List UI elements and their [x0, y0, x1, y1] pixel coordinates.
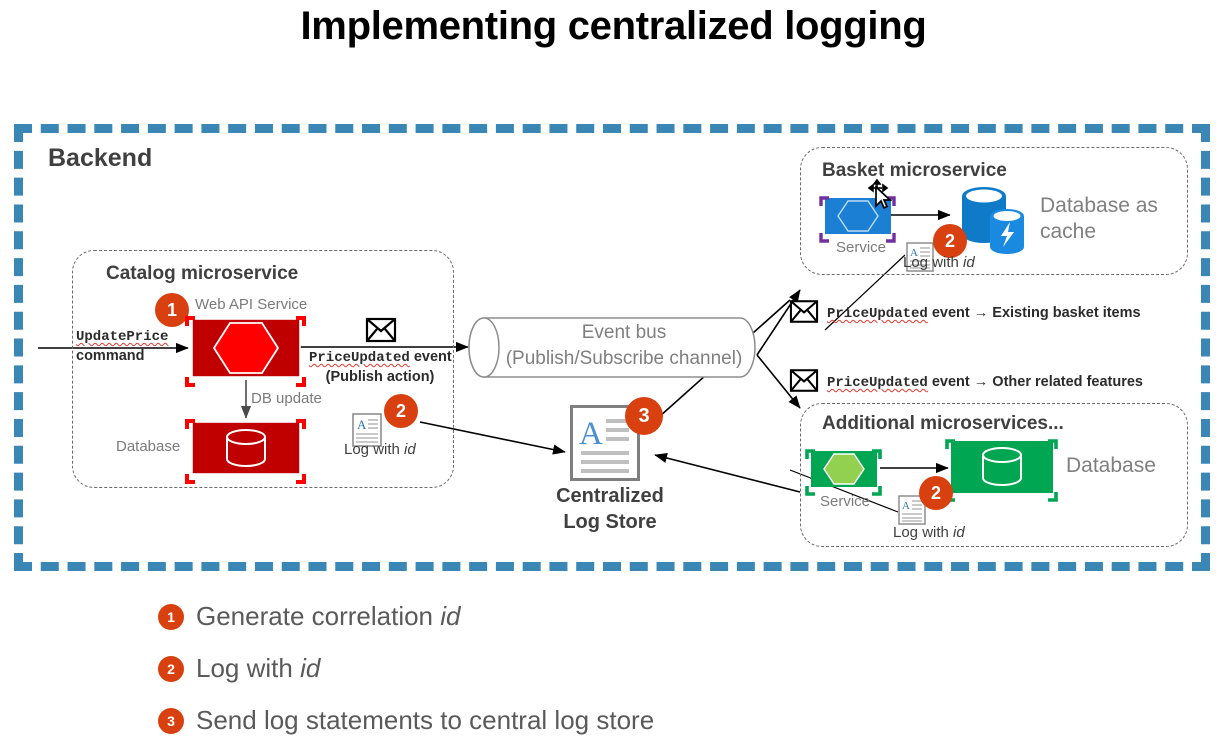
legend-label-1: Generate correlation id: [196, 601, 461, 632]
envelope-icon: [366, 318, 396, 347]
step-badge-3: 3: [625, 397, 663, 435]
catalog-log-caption-prefix: Log with: [344, 441, 404, 458]
diagram-canvas: Implementing centralized logging Backend: [0, 0, 1227, 742]
step-badge-1: 1: [155, 293, 189, 327]
additional-database-caption: Database: [1066, 454, 1156, 478]
basket-log-caption: Log with id: [903, 254, 975, 271]
catalog-microservice-title: Catalog microservice: [106, 263, 298, 285]
event-bus-line2: (Publish/Subscribe channel): [500, 346, 748, 372]
legend-label-2-text: Log with: [196, 653, 300, 683]
basket-service-caption: Service: [836, 239, 886, 256]
corner-bracket: [872, 447, 881, 456]
event-row-1-mono: PriceUpdated: [827, 306, 928, 322]
svg-text:A: A: [902, 500, 910, 512]
corner-bracket: [187, 314, 196, 323]
corner-bracket: [1048, 437, 1057, 446]
db-update-label: DB update: [251, 390, 322, 407]
log-store-title-line1: Centralized: [520, 483, 700, 509]
corner-bracket: [187, 373, 196, 382]
basket-db-caption-line1: Database as: [1040, 194, 1158, 218]
legend-badge-1: 1: [158, 604, 184, 630]
step-badge-2-basket: 2: [933, 224, 967, 258]
catalog-log-caption-italic: id: [404, 441, 416, 458]
event-row-2: PriceUpdated event → Other related featu…: [790, 369, 1143, 397]
event-row-2-rest: event → Other related features: [928, 374, 1143, 390]
centralized-log-store-title: Centralized Log Store: [520, 483, 700, 535]
event-row-2-mono: PriceUpdated: [827, 375, 928, 391]
additional-log-caption-prefix: Log with: [893, 524, 953, 541]
step-badge-2-catalog: 2: [384, 394, 418, 428]
catalog-web-api-tile: [190, 317, 302, 379]
corner-bracket: [296, 417, 305, 426]
update-price-command-label: UpdatePrice command: [76, 327, 168, 366]
publish-action-label: (Publish action): [326, 369, 435, 385]
update-price-mono: UpdatePrice: [76, 329, 168, 345]
legend-label-3: Send log statements to central log store: [196, 705, 654, 736]
legend-badge-3: 3: [158, 708, 184, 734]
corner-bracket: [821, 194, 830, 203]
backend-label: Backend: [48, 144, 152, 173]
web-api-service-caption: Web API Service: [195, 296, 307, 313]
basket-log-caption-italic: id: [963, 254, 975, 271]
legend-label-1-text: Generate correlation: [196, 601, 440, 631]
catalog-database-caption: Database: [116, 438, 180, 455]
svg-text:A: A: [357, 417, 367, 432]
event-bus-line1: Event bus: [500, 320, 748, 346]
corner-bracket: [296, 470, 305, 479]
page-title: Implementing centralized logging: [0, 4, 1227, 49]
legend-label-3-text: Send log statements to central log store: [196, 705, 654, 735]
corner-bracket: [296, 314, 305, 323]
corner-bracket: [807, 482, 816, 491]
price-updated-publish-label: PriceUpdated event (Publish action): [309, 348, 451, 387]
legend-label-2-italic: id: [300, 653, 320, 683]
additional-service-tile: [810, 450, 878, 488]
legend-item-2: 2 Log with id: [158, 653, 320, 684]
legend-badge-2: 2: [158, 656, 184, 682]
legend-label-2: Log with id: [196, 653, 320, 684]
catalog-database-tile: [190, 420, 302, 476]
svg-text:A: A: [579, 416, 603, 452]
corner-bracket: [821, 229, 830, 238]
event-row-1-rest: event → Existing basket items: [928, 305, 1141, 321]
event-bus-label: Event bus (Publish/Subscribe channel): [500, 320, 748, 372]
additional-microservices-title: Additional microservices...: [822, 413, 1064, 435]
corner-bracket: [886, 229, 895, 238]
corner-bracket: [1048, 488, 1057, 497]
legend-label-1-italic: id: [440, 601, 460, 631]
envelope-icon: [790, 300, 818, 328]
catalog-log-caption: Log with id: [344, 441, 416, 458]
event-row-1: PriceUpdated event → Existing basket ite…: [790, 300, 1141, 328]
price-updated-rest: event: [410, 349, 452, 365]
corner-bracket: [296, 373, 305, 382]
price-updated-mono: PriceUpdated: [309, 350, 410, 366]
additional-log-caption-italic: id: [953, 524, 965, 541]
basket-microservice-title: Basket microservice: [822, 160, 1007, 182]
legend-item-1: 1 Generate correlation id: [158, 601, 461, 632]
additional-log-caption: Log with id: [893, 524, 965, 541]
legend-item-3: 3 Send log statements to central log sto…: [158, 705, 654, 736]
log-store-title-line2: Log Store: [520, 509, 700, 535]
database-cache-icon: [958, 184, 1036, 265]
corner-bracket: [187, 417, 196, 426]
additional-service-caption: Service: [820, 493, 870, 510]
corner-bracket: [872, 482, 881, 491]
envelope-icon: [790, 369, 818, 397]
update-price-rest: command: [76, 348, 145, 364]
event-row-2-label: PriceUpdated event → Other related featu…: [827, 373, 1143, 393]
basket-database-caption: Database as cache: [1040, 194, 1158, 244]
corner-bracket: [947, 437, 956, 446]
basket-log-caption-prefix: Log with: [903, 254, 963, 271]
move-cursor: [866, 178, 898, 210]
additional-database-tile: [950, 440, 1054, 494]
corner-bracket: [807, 447, 816, 456]
event-row-1-label: PriceUpdated event → Existing basket ite…: [827, 304, 1141, 324]
basket-db-caption-line2: cache: [1040, 220, 1158, 244]
step-badge-2-additional: 2: [919, 476, 953, 510]
corner-bracket: [187, 470, 196, 479]
